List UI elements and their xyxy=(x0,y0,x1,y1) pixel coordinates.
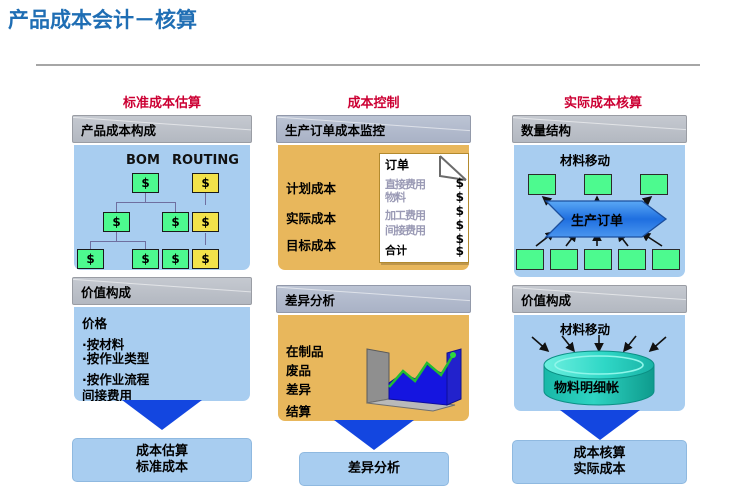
cost-label: 实际成本 xyxy=(286,208,336,227)
variance-label: 差异 xyxy=(286,379,311,398)
panel-body: BOM ROUTING $ $ $ $ $ $ $ $ $ xyxy=(74,145,250,270)
tree-line xyxy=(116,202,176,203)
result-box-variance-analysis: 差异分析 xyxy=(299,452,449,486)
panel-value-structure-standard: 价值构成 价格 ·按材料 ·按作业类型 ·按作业流程 间接费用 xyxy=(72,277,252,401)
column-heading-actual-cost: 实际成本核算 xyxy=(508,92,698,111)
routing-caption: ROUTING xyxy=(172,153,239,168)
panel-body: 材料移动 xyxy=(514,315,685,411)
result-line: 实际成本 xyxy=(573,462,625,478)
panel-header: 价值构成 xyxy=(72,277,252,305)
panel-header-label: 价值构成 xyxy=(521,290,571,309)
panel-header-label: 价值构成 xyxy=(81,282,131,301)
cost-label: 计划成本 xyxy=(286,178,336,197)
material-ledger-graphic xyxy=(514,315,685,411)
value-line: 价格 xyxy=(82,313,107,332)
flow-arrow-standard xyxy=(122,400,202,430)
document-row: 物料 xyxy=(385,189,405,205)
title-divider xyxy=(36,64,700,66)
tree-line xyxy=(145,241,146,249)
column-heading-standard-cost: 标准成本估算 xyxy=(72,92,252,111)
panel-header-label: 数量结构 xyxy=(521,120,571,139)
variance-label: 在制品 xyxy=(286,341,324,360)
order-document: 订单 直接费用 物料 加工费用 间接费用 合计 $ $ $ $ $ $ xyxy=(379,153,469,263)
variance-label: 结算 xyxy=(286,401,311,420)
tree-line xyxy=(90,241,146,242)
result-line: 差异分析 xyxy=(348,461,400,477)
result-box-standard-cost: 成本估算 标准成本 xyxy=(72,438,252,482)
panel-body: 价格 ·按材料 ·按作业类型 ·按作业流程 间接费用 xyxy=(74,307,250,401)
bom-caption: BOM xyxy=(126,153,160,168)
bom-node: $ xyxy=(132,173,159,193)
document-row: 加工费用 xyxy=(385,207,425,223)
value-line: ·按作业类型 xyxy=(82,348,149,367)
document-amount: $ xyxy=(456,204,464,218)
column-heading-cost-control: 成本控制 xyxy=(276,92,471,111)
tree-line xyxy=(175,202,176,212)
result-line: 标准成本 xyxy=(136,460,188,476)
panel-body: 材料移动 xyxy=(514,145,685,277)
panel-header: 产品成本构成 xyxy=(72,115,252,143)
panel-header: 数量结构 xyxy=(512,115,687,143)
result-line: 成本核算 xyxy=(573,446,625,462)
bom-node: $ xyxy=(162,212,189,232)
tree-line xyxy=(90,241,91,249)
routing-node: $ xyxy=(192,249,219,269)
flow-arrow-actual xyxy=(560,410,640,440)
routing-node: $ xyxy=(192,173,219,193)
document-amount: $ xyxy=(456,176,464,190)
panel-value-structure-actual: 价值构成 材料移动 xyxy=(512,285,687,411)
production-order-label: 生产订单 xyxy=(571,210,623,229)
document-amount: $ xyxy=(456,190,464,204)
routing-node: $ xyxy=(192,212,219,232)
bom-node: $ xyxy=(162,249,189,269)
panel-product-cost-structure: 产品成本构成 BOM ROUTING $ $ $ $ $ $ $ xyxy=(72,115,252,270)
slide-canvas: 产品成本会计－核算 标准成本估算 成本控制 实际成本核算 产品成本构成 BOM … xyxy=(0,0,736,497)
variance-label: 废品 xyxy=(286,360,311,379)
panel-header-label: 生产订单成本监控 xyxy=(285,120,385,139)
result-line: 成本估算 xyxy=(136,444,188,460)
document-amount: $ xyxy=(456,218,464,232)
panel-header: 生产订单成本监控 xyxy=(276,115,471,143)
panel-header: 价值构成 xyxy=(512,285,687,313)
tree-line xyxy=(116,202,117,212)
panel-variance-analysis: 差异分析 在制品 废品 差异 结算 xyxy=(276,285,471,421)
result-box-actual-cost: 成本核算 实际成本 xyxy=(512,440,687,484)
cost-label: 目标成本 xyxy=(286,235,336,254)
panel-order-cost-monitoring: 生产订单成本监控 计划成本 实际成本 目标成本 订单 直接费用 物料 加工费用 … xyxy=(276,115,471,270)
panel-header-label: 产品成本构成 xyxy=(81,120,156,139)
routing-line xyxy=(205,193,206,205)
value-line: 间接费用 xyxy=(82,385,132,401)
variance-chart-icon xyxy=(363,343,468,415)
document-row: 间接费用 xyxy=(385,222,425,238)
document-amount-total: $ xyxy=(456,244,464,258)
page-title: 产品成本会计－核算 xyxy=(8,4,197,34)
panel-body: 计划成本 实际成本 目标成本 订单 直接费用 物料 加工费用 间接费用 合计 $… xyxy=(278,145,469,270)
routing-line xyxy=(205,233,206,245)
panel-quantity-structure: 数量结构 材料移动 xyxy=(512,115,687,277)
document-row-total: 合计 xyxy=(385,242,407,258)
bom-node: $ xyxy=(77,249,104,269)
panel-header: 差异分析 xyxy=(276,285,471,313)
panel-header-label: 差异分析 xyxy=(285,290,335,309)
bom-node: $ xyxy=(103,212,130,232)
bom-node: $ xyxy=(132,249,159,269)
material-ledger-label: 物料明细帐 xyxy=(554,377,619,396)
panel-body: 在制品 废品 差异 结算 xyxy=(278,315,469,421)
flow-arrow-variance xyxy=(334,420,414,450)
